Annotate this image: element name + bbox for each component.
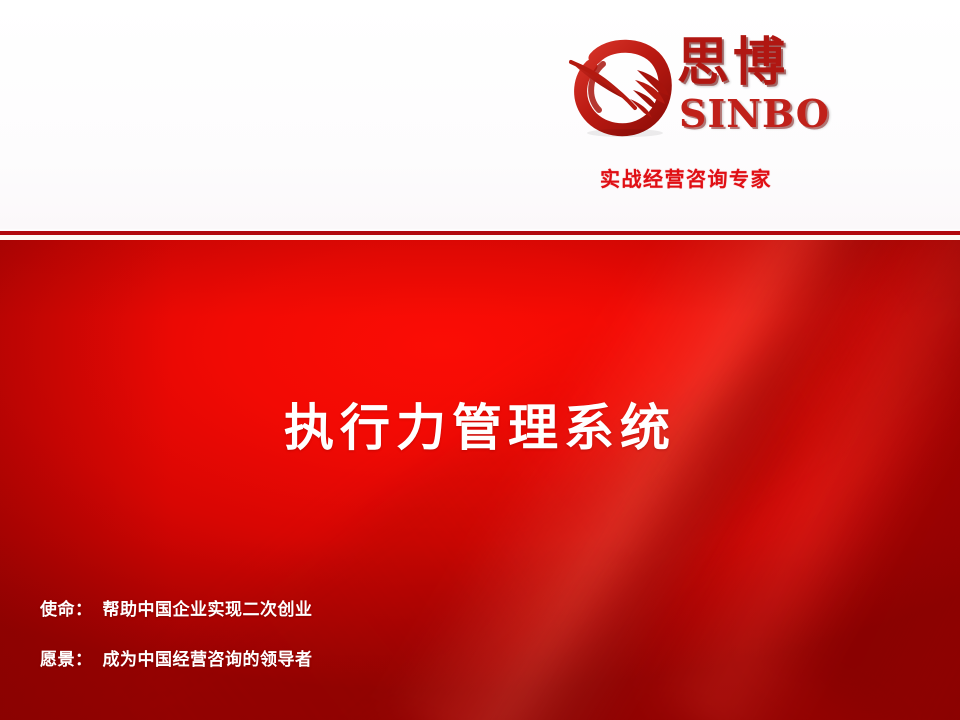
background-streak-decoration [379, 240, 950, 720]
mission-text: 帮助中国企业实现二次创业 [103, 600, 313, 619]
presentation-slide: 思博 SINBO 实战经营咨询专家 执行力管理系统 使命：帮助中国企业实现二次创… [0, 0, 960, 720]
background-streak-decoration [640, 240, 960, 720]
brand-english-name: SINBO [679, 92, 879, 136]
brand-logo-block: 思博 SINBO [565, 30, 865, 155]
slide-main-title: 执行力管理系统 [0, 388, 960, 460]
slide-header: 思博 SINBO 实战经营咨询专家 [0, 0, 960, 229]
title-panel: 执行力管理系统 使命：帮助中国企业实现二次创业 愿景：成为中国经营咨询的领导者 [0, 240, 960, 720]
vision-label: 愿景： [40, 650, 93, 669]
background-streak-decoration [745, 240, 960, 720]
vision-text: 成为中国经营咨询的领导者 [103, 650, 313, 669]
phoenix-ring-logo-icon [565, 36, 683, 140]
company-tagline: 实战经营咨询专家 [600, 163, 772, 192]
brand-chinese-name: 思博 [677, 32, 867, 98]
vision-line: 愿景：成为中国经营咨询的领导者 [40, 645, 313, 670]
background-streak-decoration [487, 240, 960, 720]
mission-line: 使命：帮助中国企业实现二次创业 [40, 595, 313, 620]
mission-label: 使命： [40, 600, 93, 619]
